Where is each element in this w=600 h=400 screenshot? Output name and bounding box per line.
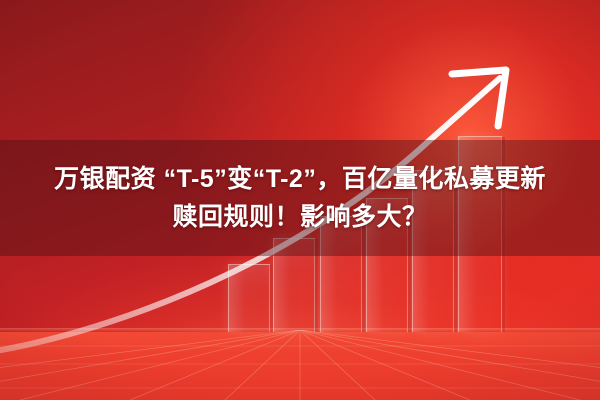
promo-banner: 万银配资 “T-5”变“T-2”，百亿量化私募更新 赎回规则！影响多大？ — [0, 0, 600, 400]
vignette-overlay — [0, 0, 600, 400]
